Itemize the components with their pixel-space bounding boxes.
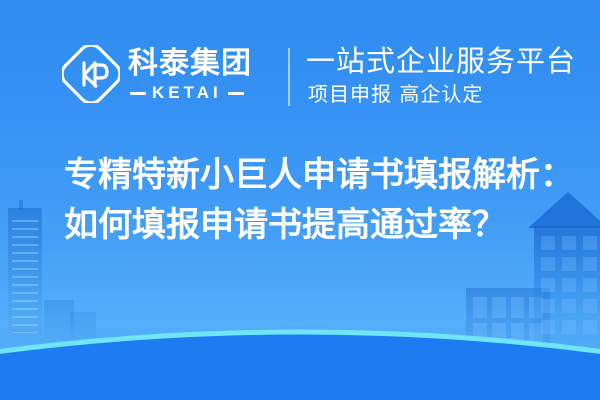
banner-header: 科泰集团 KETAI 一站式企业服务平台 项目申报 高企认定: [0, 0, 600, 130]
bottom-curve: [0, 280, 600, 400]
header-slogan: 一站式企业服务平台 项目申报 高企认定: [306, 43, 576, 107]
dash-left-icon: [130, 92, 146, 95]
ketai-logo-icon: [62, 45, 120, 103]
title-line-2: 如何填报申请书提高通过率？: [64, 200, 584, 250]
slogan-sub-text: 项目申报 高企认定: [306, 81, 576, 107]
promo-banner: 科泰集团 KETAI 一站式企业服务平台 项目申报 高企认定 专精特新小巨人申请…: [0, 0, 600, 400]
logo-company-cn: 科泰集团: [128, 47, 278, 81]
dash-right-icon: [228, 92, 244, 95]
title-line-1: 专精特新小巨人申请书填报解析：: [64, 150, 584, 200]
page-title: 专精特新小巨人申请书填报解析： 如何填报申请书提高通过率？: [64, 150, 584, 250]
slogan-main-text: 一站式企业服务平台: [306, 43, 576, 79]
curve-shape: [0, 280, 600, 400]
logo-company-en: KETAI: [152, 84, 222, 102]
logo-wordmark: 科泰集团 KETAI: [128, 47, 278, 102]
header-divider: [288, 48, 290, 106]
logo-company-en-row: KETAI: [128, 84, 278, 102]
